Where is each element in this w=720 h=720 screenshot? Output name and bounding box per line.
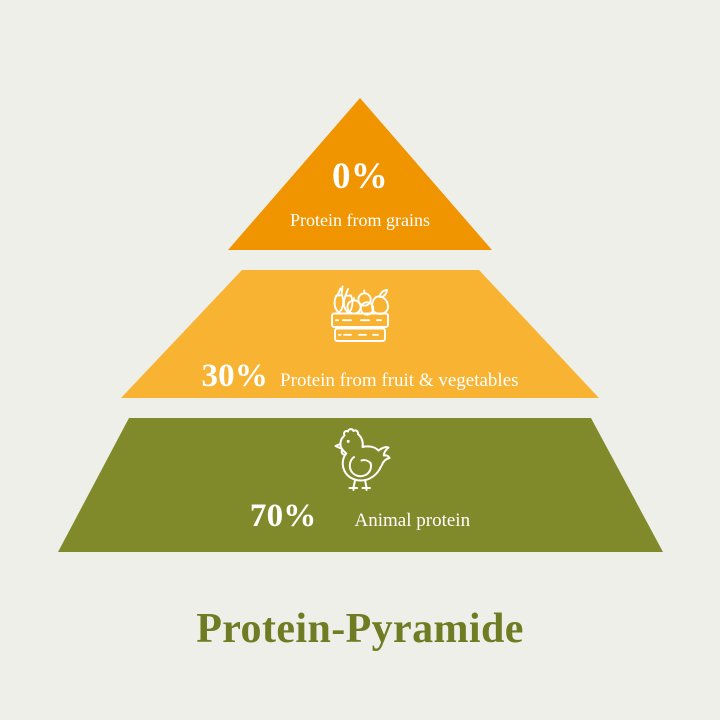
tier-produce-caption: Protein from fruit & vegetables [280, 371, 519, 390]
pyramid-tier-grains: 0% Protein from grains [0, 98, 720, 250]
hen-icon [324, 424, 396, 499]
pyramid-tier-produce: 30% Protein from fruit & vegetables [0, 270, 720, 398]
protein-pyramid-infographic: 0% Protein from grains [0, 0, 720, 720]
pyramid-tier-animal: 70% Animal protein [0, 418, 720, 552]
chart-title: Protein-Pyramide [0, 605, 720, 653]
vegetable-crate-icon [323, 282, 397, 349]
tier-produce-content: 30% Protein from fruit & vegetables [0, 360, 720, 393]
tier-grains-percent: 0% [0, 158, 720, 195]
tier-grains-content: 0% Protein from grains [0, 158, 720, 229]
tier-animal-caption: Animal protein [355, 511, 471, 530]
tier-animal-content: 70% Animal protein [0, 500, 720, 533]
pyramid-chart: 0% Protein from grains [0, 0, 720, 570]
tier-grains-caption: Protein from grains [0, 211, 720, 229]
tier-produce-percent: 30% [201, 360, 268, 393]
tier-animal-percent: 70% [250, 500, 317, 533]
